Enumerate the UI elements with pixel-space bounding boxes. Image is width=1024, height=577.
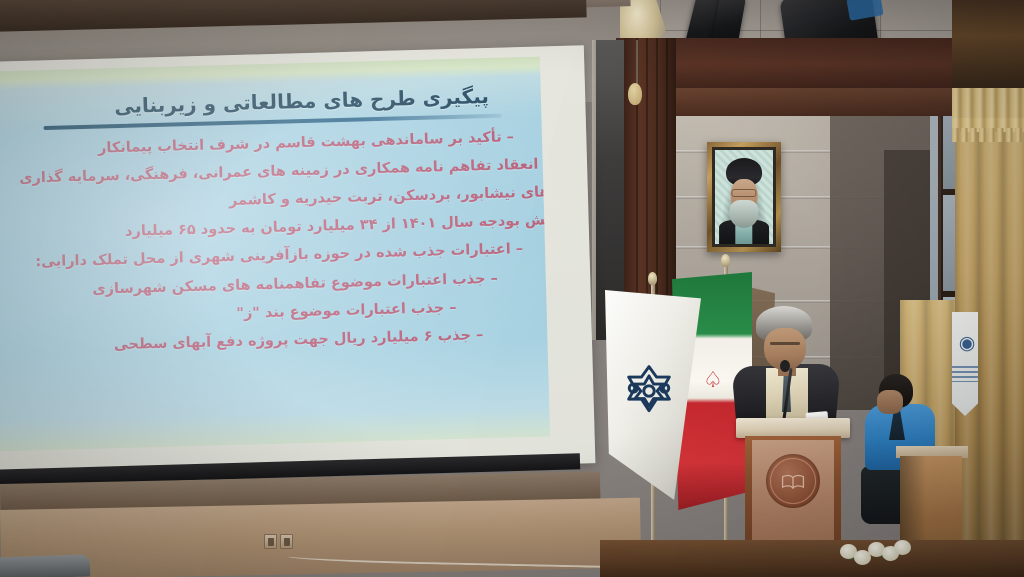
portrait-collar — [735, 225, 752, 244]
iran-flag-emblem-icon: ♤ — [700, 370, 726, 396]
attendee-face — [877, 390, 903, 414]
slide-bullet: شهرداری های نیشابور، بردسکن، تربت حیدریه… — [0, 183, 550, 217]
white-flower-arrangement — [838, 534, 930, 570]
flag-pole-finial — [648, 272, 657, 285]
banner-text-block — [952, 366, 978, 382]
stage-front-edge — [600, 540, 1024, 577]
floor-object — [0, 554, 90, 577]
microphone-icon — [780, 360, 790, 372]
slide-bullet: – انعقاد تفاهم نامه همکاری در زمینه های … — [0, 156, 550, 189]
municipality-emblem-icon — [620, 362, 678, 420]
curtain-fringe — [952, 88, 1024, 132]
banner-logo-icon: ◉ — [956, 322, 978, 364]
hanging-light-icon — [628, 83, 642, 105]
portrait-glasses-icon — [731, 189, 756, 198]
slide-bullet: – جذب اعتبارات موضوع تفاهمنامه های مسکن … — [0, 270, 528, 302]
hanging-cord — [636, 40, 638, 86]
portrait-image — [715, 150, 773, 244]
slide-bullet: – تأکید بر ساماندهی بهشت قاسم در شرف انت… — [0, 129, 524, 161]
slide-bullet: – جذب اعتبارات موضوع بند "ز" — [0, 298, 529, 330]
framed-wall-portrait — [707, 142, 781, 252]
podium-top — [736, 418, 850, 438]
slide-bullet: – اعتبارات جذب شده در حوزه بازآفرینی شهر… — [0, 241, 527, 273]
slide-bullet: – تصویب افزایش بودجه سال ۱۴۰۱ از ۳۴ میلی… — [0, 210, 550, 245]
slide-bullet: – جذب ۶ میلیارد ریال جهت پروژه دفع آبهای… — [0, 326, 530, 358]
presenter-brow — [770, 342, 800, 345]
open-book-icon — [780, 473, 806, 491]
podium-emblem-icon — [766, 454, 820, 508]
flag-pole-finial — [721, 254, 730, 267]
conference-hall-photo: پیگیری طرح های مطالعاتی و زیربنایی – تأک… — [0, 0, 1024, 577]
portrait-beard — [730, 200, 759, 228]
projected-slide: پیگیری طرح های مطالعاتی و زیربنایی – تأک… — [0, 57, 550, 452]
wall-outlet — [264, 534, 277, 549]
